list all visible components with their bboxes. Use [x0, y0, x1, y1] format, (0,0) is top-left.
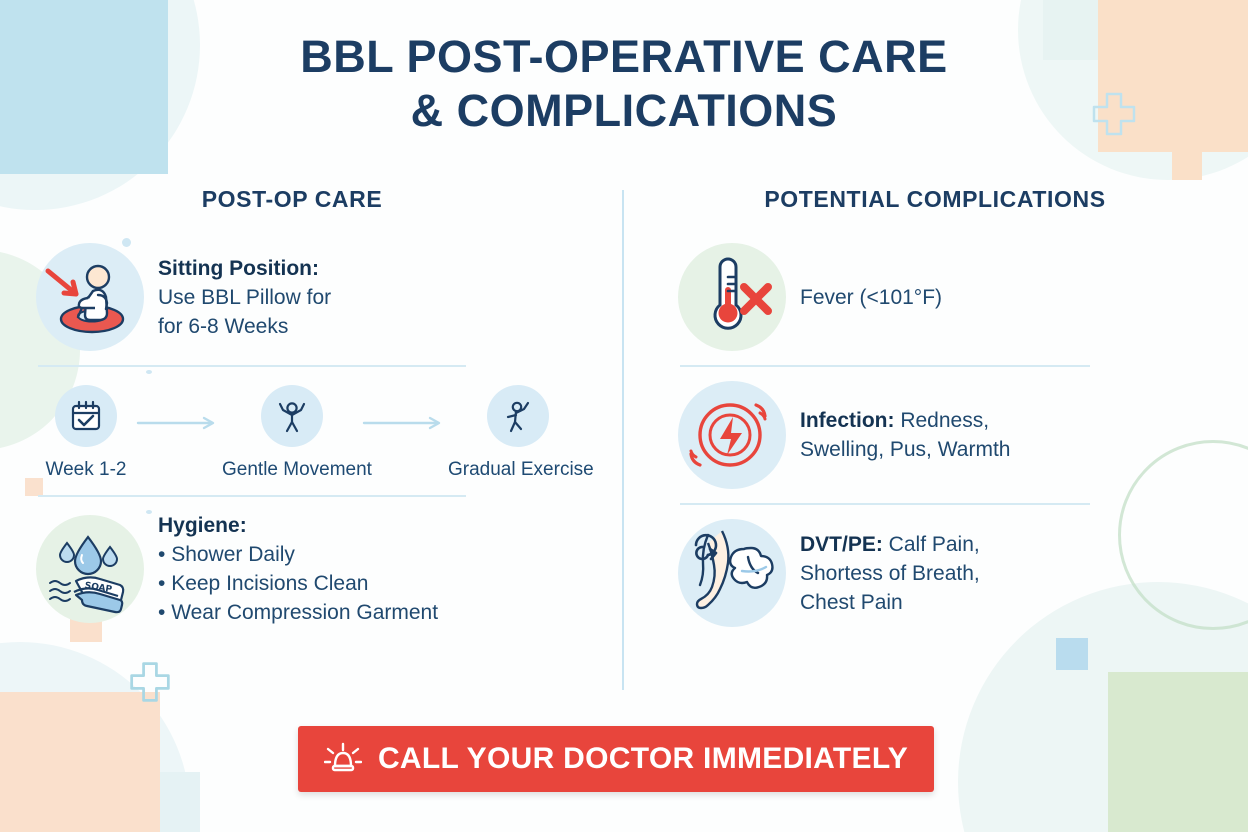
page-title: BBL POST-OPERATIVE CARE & COMPLICATIONS	[0, 0, 1248, 138]
complication-item-infection: Infection: Redness, Swelling, Pus, Warmt…	[678, 381, 1212, 489]
complication-item-fever: Fever (<101°F)	[678, 243, 1212, 351]
dvt-pe-line-3: Chest Pain	[800, 588, 980, 617]
person-arms-up-icon	[261, 385, 323, 447]
sitting-position-line-1: Use BBL Pillow for	[158, 283, 331, 312]
left-separator-1	[38, 365, 466, 367]
timeline-label-gentle-movement: Gentle Movement	[222, 459, 362, 481]
dvt-pe-line-1: Calf Pain,	[883, 533, 980, 556]
post-op-care-column: POST-OP CARE	[0, 186, 624, 627]
care-item-hygiene-text: Hygiene: • Shower Daily • Keep Incisions…	[158, 511, 438, 627]
call-doctor-banner[interactable]: CALL YOUR DOCTOR IMMEDIATELY	[298, 726, 934, 792]
timeline-step-gentle-movement: Gentle Movement	[222, 385, 362, 481]
infection-line-2: Swelling, Pus, Warmth	[800, 435, 1010, 464]
complication-item-fever-text: Fever (<101°F)	[800, 283, 942, 312]
care-item-hygiene: SOAP Hygiene: • Shower Daily • Keep Inci…	[36, 511, 588, 627]
water-drops-soap-icon: SOAP	[36, 515, 144, 623]
infection-title: Infection:	[800, 409, 895, 432]
hygiene-bullet-1-label: Shower Daily	[171, 543, 295, 566]
person-sitting-on-bbl-pillow-icon	[36, 243, 144, 351]
hygiene-bullet-2: • Keep Incisions Clean	[158, 569, 438, 598]
sitting-position-title: Sitting Position:	[158, 257, 319, 280]
timeline-arrow-1	[136, 416, 222, 430]
activity-timeline: Week 1-2	[36, 381, 588, 481]
complication-item-infection-text: Infection: Redness, Swelling, Pus, Warmt…	[800, 406, 1010, 464]
alarm-siren-icon	[324, 738, 362, 781]
page-title-line-2: & COMPLICATIONS	[0, 84, 1248, 138]
calendar-check-icon	[55, 385, 117, 447]
post-op-care-heading: POST-OP CARE	[36, 186, 588, 213]
leg-lung-dvt-icon	[678, 519, 786, 627]
infection-bolt-icon	[678, 381, 786, 489]
columns-container: POST-OP CARE	[0, 186, 1248, 627]
person-stretching-icon	[487, 385, 549, 447]
infographic-page: BBL POST-OPERATIVE CARE & COMPLICATIONS …	[0, 0, 1248, 832]
column-divider	[622, 190, 624, 690]
care-item-sitting-position: Sitting Position: Use BBL Pillow for for…	[36, 243, 588, 351]
complication-item-dvt-pe: DVT/PE: Calf Pain, Shortess of Breath, C…	[678, 519, 1212, 627]
hygiene-title: Hygiene:	[158, 514, 247, 537]
hygiene-bullet-3: • Wear Compression Garment	[158, 598, 438, 627]
hygiene-bullet-1: • Shower Daily	[158, 540, 438, 569]
timeline-arrow-2	[362, 416, 448, 430]
hygiene-bullet-3-label: Wear Compression Garment	[171, 601, 438, 624]
thermometer-x-icon	[678, 243, 786, 351]
potential-complications-heading: POTENTIAL COMPLICATIONS	[678, 186, 1212, 213]
page-title-line-1: BBL POST-OPERATIVE CARE	[0, 30, 1248, 84]
care-item-sitting-position-text: Sitting Position: Use BBL Pillow for for…	[158, 254, 331, 341]
timeline-label-gradual-exercise: Gradual Exercise	[448, 459, 588, 481]
sitting-position-line-2: for 6-8 Weeks	[158, 312, 331, 341]
call-doctor-banner-label: CALL YOUR DOCTOR IMMEDIATELY	[378, 742, 908, 776]
timeline-label-week-1-2: Week 1-2	[36, 459, 136, 481]
complication-item-dvt-pe-text: DVT/PE: Calf Pain, Shortess of Breath, C…	[800, 530, 980, 617]
dvt-pe-line-2: Shortess of Breath,	[800, 559, 980, 588]
hygiene-bullet-2-label: Keep Incisions Clean	[171, 572, 368, 595]
left-separator-2	[38, 495, 466, 497]
infection-line-1: Redness,	[895, 409, 990, 432]
fever-line-1: Fever (<101°F)	[800, 283, 942, 312]
dvt-pe-title: DVT/PE:	[800, 533, 883, 556]
right-separator-1	[680, 365, 1090, 367]
right-separator-2	[680, 503, 1090, 505]
timeline-step-gradual-exercise: Gradual Exercise	[448, 385, 588, 481]
potential-complications-column: POTENTIAL COMPLICATIONS Fever (<101°F)	[624, 186, 1248, 627]
timeline-step-week-1-2: Week 1-2	[36, 385, 136, 481]
